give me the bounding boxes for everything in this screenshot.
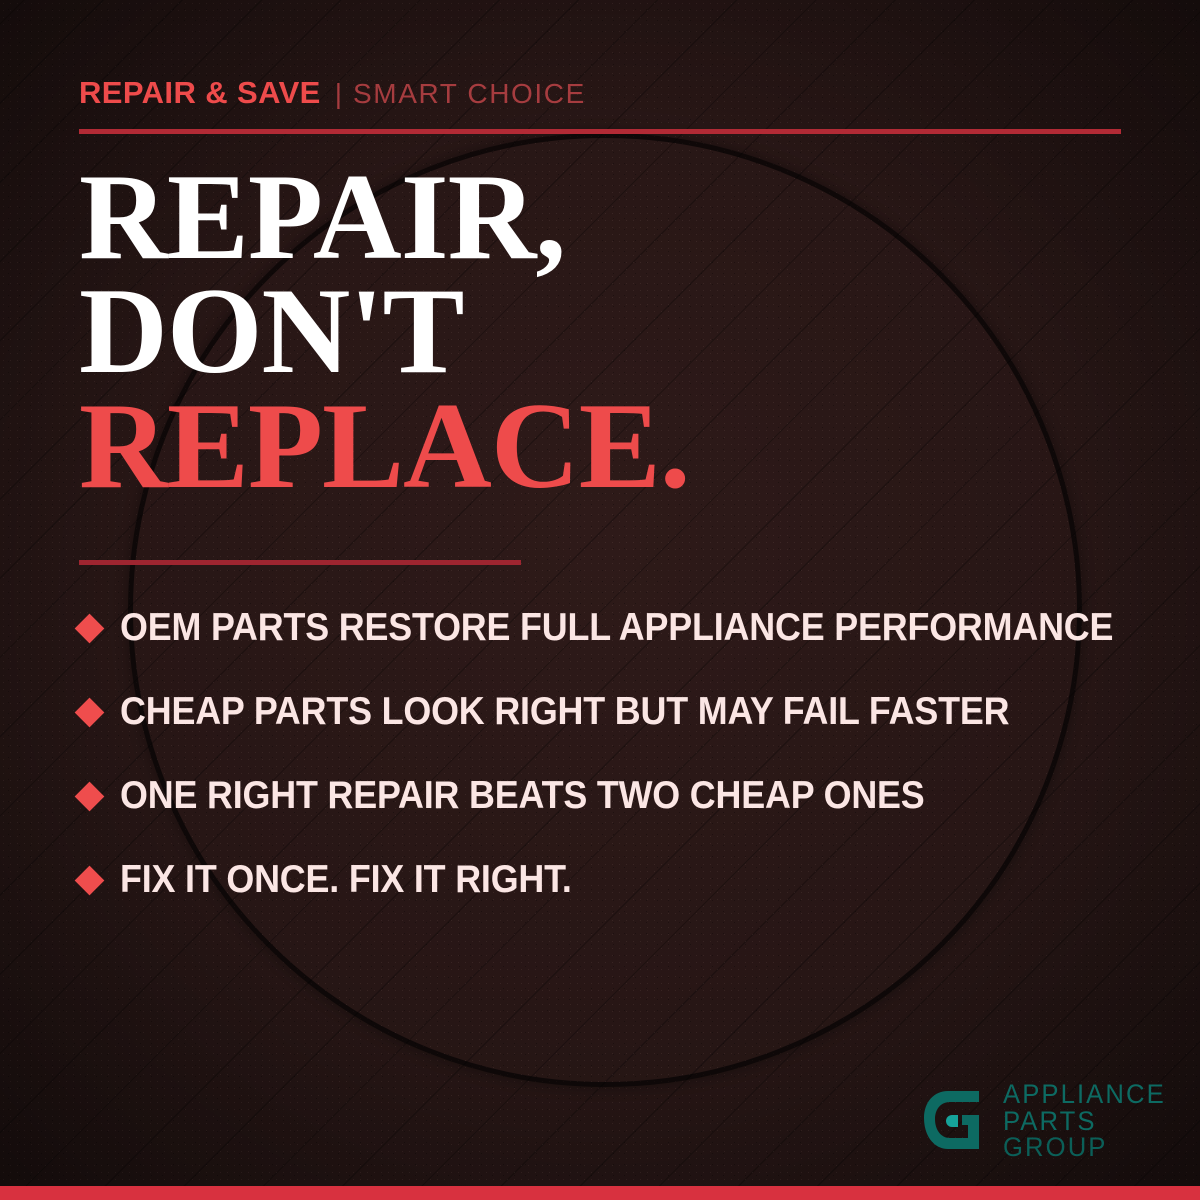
brand-line-1: APPLIANCE [1003,1081,1166,1107]
list-item: CHEAP PARTS LOOK RIGHT BUT MAY FAIL FAST… [79,670,1159,754]
brand-wordmark: APPLIANCE PARTS GROUP [1003,1081,1174,1160]
kicker-strong-label: REPAIR & SAVE [79,75,321,111]
kicker: REPAIR & SAVE | SMART CHOICE [79,75,586,111]
poster-content: REPAIR & SAVE | SMART CHOICE REPAIR, DON… [0,0,1200,1200]
brand-line-3: GROUP [1003,1134,1166,1160]
headline-line-2: DON'T [79,274,689,388]
list-item: FIX IT ONCE. FIX IT RIGHT. [79,838,1159,922]
list-item: OEM PARTS RESTORE FULL APPLIANCE PERFORM… [79,586,1159,670]
brand-line-2: PARTS [1003,1108,1166,1134]
benefits-list: OEM PARTS RESTORE FULL APPLIANCE PERFORM… [79,586,1159,922]
diamond-bullet-icon [75,697,105,727]
g-monogram-icon [918,1085,990,1157]
list-item-label: OEM PARTS RESTORE FULL APPLIANCE PERFORM… [120,606,1113,650]
headline-line-1: REPAIR, [79,160,689,274]
diamond-bullet-icon [75,865,105,895]
headline: REPAIR, DON'T REPLACE. [79,160,689,503]
kicker-sub-label: | SMART CHOICE [335,78,586,110]
list-item-label: CHEAP PARTS LOOK RIGHT BUT MAY FAIL FAST… [120,690,1009,734]
list-item-label: FIX IT ONCE. FIX IT RIGHT. [120,858,572,902]
headline-divider [79,560,521,565]
list-item-label: ONE RIGHT REPAIR BEATS TWO CHEAP ONES [120,774,925,818]
header-divider [79,129,1121,134]
diamond-bullet-icon [75,781,105,811]
diamond-bullet-icon [75,613,105,643]
bottom-accent-bar [0,1186,1200,1200]
headline-line-3: REPLACE. [79,389,689,503]
brand-logo: APPLIANCE PARTS GROUP [918,1081,1174,1160]
promo-poster: REPAIR & SAVE | SMART CHOICE REPAIR, DON… [0,0,1200,1200]
list-item: ONE RIGHT REPAIR BEATS TWO CHEAP ONES [79,754,1159,838]
